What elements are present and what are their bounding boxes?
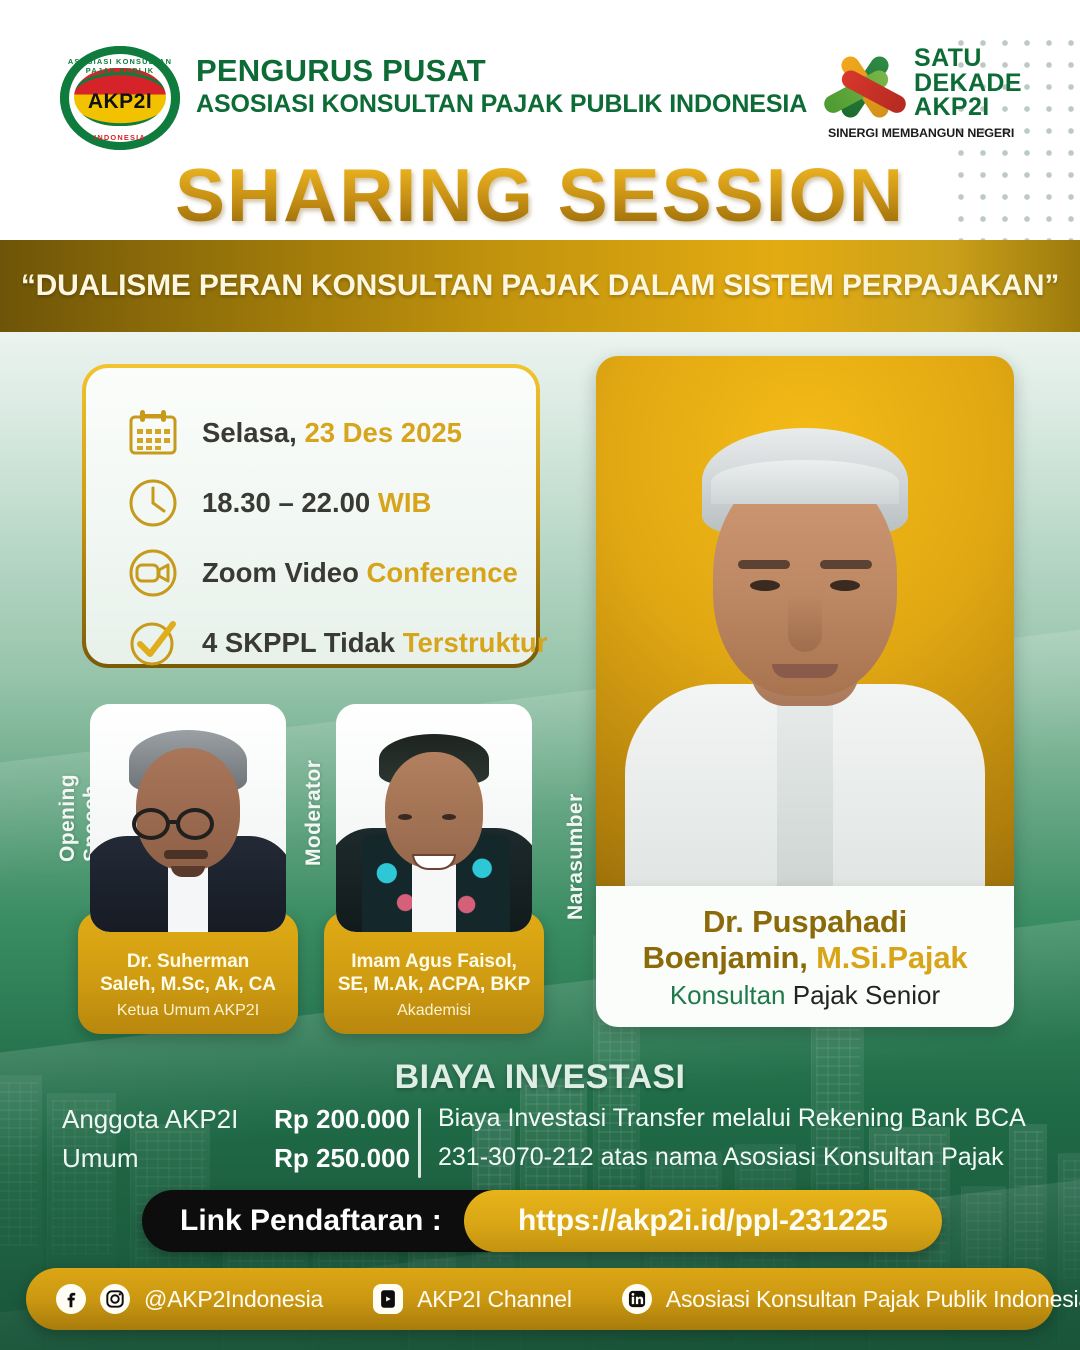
speaker-role-opening: Ketua Umum AKP2I [86, 1002, 290, 1020]
logo-arc-bottom-text: INDONESIA [60, 133, 180, 142]
main-title: SHARING SESSION [0, 152, 1080, 238]
subtitle-banner: “DUALISME PERAN KONSULTAN PAJAK DALAM SI… [0, 240, 1080, 332]
transfer-line-2: 231-3070-212 atas nama Asosiasi Konsulta… [438, 1143, 1040, 1182]
platform-dark-part: Zoom Video [202, 557, 359, 588]
date-dark-part: Selasa, [202, 417, 297, 448]
dekade-ribbon-icon [826, 48, 904, 126]
header-bar: ASOSIASI KONSULTAN PAJAK PUBLIK AKP2I IN… [0, 0, 1080, 160]
calendar-icon [126, 406, 180, 460]
pricing-table: Anggota AKP2I Rp 200.000 Umum Rp 250.000 [62, 1104, 410, 1182]
main-name-text-2a: Boenjamin, [643, 940, 817, 975]
detail-row-time: 18.30 – 22.00 WIB [126, 476, 431, 530]
main-name-text-1: Dr. Puspahadi [703, 904, 907, 939]
dekade-line-1: SATU [914, 46, 1022, 71]
platform-gold-part: Conference [367, 557, 518, 588]
vertical-label-moderator: Moderator [302, 756, 326, 866]
transfer-info: Biaya Investasi Transfer melalui Rekenin… [438, 1104, 1040, 1182]
linkedin-icon[interactable] [622, 1284, 652, 1314]
facebook-icon[interactable] [56, 1284, 86, 1314]
pricing-row-public: Umum Rp 250.000 [62, 1143, 410, 1182]
pricing-label-member: Anggota AKP2I [62, 1104, 238, 1135]
video-camera-icon [126, 546, 180, 600]
speaker-card-moderator: Imam Agus Faisol, SE, M.Ak, ACPA, BKP Ak… [324, 704, 544, 1034]
moderator-role: Akademisi [332, 1002, 536, 1020]
detail-row-date: Selasa, 23 Des 2025 [126, 406, 462, 460]
dekade-line-2: DEKADE [914, 71, 1022, 96]
brand-title-block: PENGURUS PUSAT ASOSIASI KONSULTAN PAJAK … [196, 54, 807, 119]
footer-social-bar: @AKP2Indonesia AKP2I Channel Asosiasi Ko… [26, 1268, 1054, 1330]
linkedin-name-text: Asosiasi Konsultan Pajak Publik Indonesi… [666, 1286, 1080, 1313]
brand-line-2: ASOSIASI KONSULTAN PAJAK PUBLIK INDONESI… [196, 91, 807, 119]
transfer-line-1: Biaya Investasi Transfer melalui Rekenin… [438, 1104, 1040, 1143]
speaker-name-line-1: Dr. Suherman [86, 950, 290, 973]
registration-url-pill[interactable]: https://akp2i.id/ppl-231225 [464, 1190, 942, 1252]
speaker-photo-imam [336, 704, 532, 932]
satu-dekade-logo: SATU DEKADE AKP2I SINERGI MEMBANGUN NEGE… [826, 46, 1022, 146]
youtube-channel-text: AKP2I Channel [417, 1286, 572, 1313]
speaker-photo-suherman [90, 704, 286, 932]
pricing-zone: Anggota AKP2I Rp 200.000 Umum Rp 250.000… [0, 1104, 1080, 1182]
social-handle-text: @AKP2Indonesia [144, 1286, 323, 1313]
pricing-value-public: Rp 250.000 [274, 1143, 410, 1174]
speaker-text-moderator: Imam Agus Faisol, SE, M.Ak, ACPA, BKP Ak… [332, 950, 536, 1020]
detail-row-platform: Zoom Video Conference [126, 546, 518, 600]
speaker-name-line-2: Saleh, M.Sc, Ak, CA [86, 973, 290, 996]
speaker-text-opening: Dr. Suherman Saleh, M.Sc, Ak, CA Ketua U… [86, 950, 290, 1020]
pricing-value-member: Rp 200.000 [274, 1104, 410, 1135]
main-speaker-nameplate: Dr. Puspahadi Boenjamin, M.Si.Pajak Kons… [596, 886, 1014, 1027]
speaker-card-opening: Dr. Suherman Saleh, M.Sc, Ak, CA Ketua U… [78, 704, 298, 1034]
main-name-line-1: Dr. Puspahadi [606, 904, 1004, 940]
pricing-row-member: Anggota AKP2I Rp 200.000 [62, 1104, 410, 1143]
poster-root: ASOSIASI KONSULTAN PAJAK PUBLIK AKP2I IN… [0, 0, 1080, 1350]
main-speaker-card: Dr. Puspahadi Boenjamin, M.Si.Pajak Kons… [596, 356, 1014, 1027]
logo-arc-top-text: ASOSIASI KONSULTAN PAJAK PUBLIK [60, 57, 180, 75]
event-details-card: Selasa, 23 Des 2025 18.30 – 22.00 WIB [82, 364, 540, 668]
dekade-line-3: AKP2I [914, 95, 1022, 120]
logo-center-text: AKP2I [60, 90, 180, 114]
time-dark-part: 18.30 – 22.00 [202, 487, 370, 518]
moderator-name-line-1: Imam Agus Faisol, [332, 950, 536, 973]
subtitle-text: “DUALISME PERAN KONSULTAN PAJAK DALAM SI… [21, 269, 1059, 303]
credits-dark-part: 4 SKPPL Tidak [202, 627, 395, 658]
akp2i-logo: ASOSIASI KONSULTAN PAJAK PUBLIK AKP2I IN… [60, 46, 180, 150]
clock-icon [126, 476, 180, 530]
registration-bar[interactable]: Link Pendaftaran : https://akp2i.id/ppl-… [142, 1190, 942, 1252]
pricing-label-public: Umum [62, 1143, 139, 1174]
main-speaker-photo [596, 356, 1014, 902]
vertical-label-narasumber: Narasumber [564, 790, 588, 920]
main-speaker-role: Konsultan Pajak Senior [606, 980, 1004, 1011]
credits-gold-part: Terstruktur [403, 627, 548, 658]
moderator-name-line-2: SE, M.Ak, ACPA, BKP [332, 973, 536, 996]
registration-label: Link Pendaftaran : [142, 1204, 442, 1238]
main-role-text-b: Pajak Senior [786, 980, 941, 1010]
registration-url[interactable]: https://akp2i.id/ppl-231225 [518, 1204, 888, 1238]
pricing-heading: BIAYA INVESTASI [0, 1058, 1080, 1097]
check-circle-icon [126, 616, 180, 670]
pricing-divider [418, 1108, 421, 1178]
main-title-wrap: SHARING SESSION [0, 152, 1080, 238]
detail-row-credits: 4 SKPPL Tidak Terstruktur [126, 616, 547, 670]
main-role-text-a: Konsultan [670, 980, 786, 1010]
detail-label-credits: 4 SKPPL Tidak Terstruktur [202, 627, 547, 659]
main-name-line-2: Boenjamin, M.Si.Pajak [606, 940, 1004, 976]
instagram-icon[interactable] [100, 1284, 130, 1314]
detail-label-time: 18.30 – 22.00 WIB [202, 487, 431, 519]
dekade-tagline: SINERGI MEMBANGUN NEGERI [828, 126, 1014, 140]
youtube-icon[interactable] [373, 1284, 403, 1314]
main-name-text-2b: M.Si.Pajak [816, 940, 967, 975]
time-gold-part: WIB [378, 487, 431, 518]
date-gold-part: 23 Des 2025 [304, 417, 462, 448]
brand-line-1: PENGURUS PUSAT [196, 54, 807, 87]
detail-label-date: Selasa, 23 Des 2025 [202, 417, 462, 449]
detail-label-platform: Zoom Video Conference [202, 557, 518, 589]
